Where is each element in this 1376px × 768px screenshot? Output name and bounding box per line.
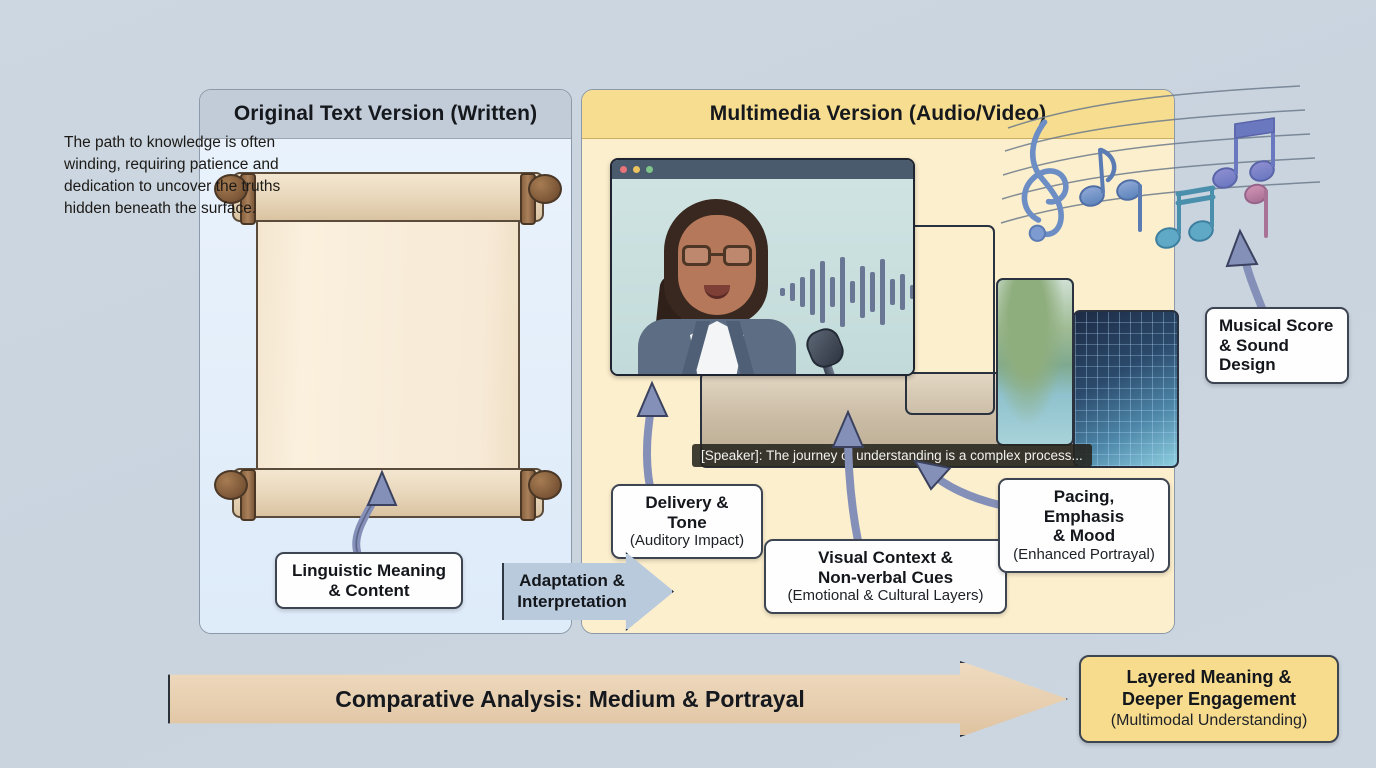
callout-pacing-subtitle: (Enhanced Portrayal) [1012, 546, 1156, 564]
arrow-musical-to-staff [1227, 231, 1262, 308]
comparative-analysis-arrow: Comparative Analysis: Medium & Portrayal [168, 661, 1068, 737]
outcome-box[interactable]: Layered Meaning & Deeper Engagement (Mul… [1079, 655, 1339, 743]
close-dot-icon[interactable] [620, 166, 627, 173]
waveform-bar [800, 277, 805, 307]
video-player-screen [612, 179, 913, 374]
music-note-quarter-2 [1243, 182, 1269, 236]
music-note-beamed-pair-2 [1211, 118, 1277, 191]
callout-musical-score[interactable]: Musical Score & Sound Design [1205, 307, 1349, 384]
minimize-dot-icon[interactable] [633, 166, 640, 173]
callout-pacing-title-line1: Pacing, Emphasis [1012, 487, 1156, 526]
scroll-parchment [256, 190, 520, 480]
waveform-bar [910, 285, 915, 299]
video-player-titlebar [612, 160, 913, 179]
callout-linguistic-meaning[interactable]: Linguistic Meaning & Content [275, 552, 463, 609]
nature-thumbnail [996, 278, 1074, 446]
scroll-rod-bottom [232, 468, 544, 518]
waveform-bar [780, 288, 785, 296]
waveform-bar [840, 257, 845, 327]
callout-pacing-title-line2: & Mood [1012, 526, 1156, 546]
waveform-bar [830, 277, 835, 307]
microphone-icon [802, 324, 848, 372]
scroll-knob-left-bottom [214, 470, 248, 500]
multimedia-panel-title: Multimedia Version (Audio/Video) [582, 90, 1174, 139]
waveform-bar [850, 281, 855, 303]
diagram-canvas: Original Text Version (Written) The path… [0, 0, 1376, 768]
audio-waveform-icon [780, 257, 915, 327]
callout-visual-subtitle: (Emotional & Cultural Layers) [778, 587, 993, 605]
waveform-bar [870, 272, 875, 312]
callout-delivery-title: Delivery & Tone [625, 493, 749, 532]
eyeglasses-icon [682, 245, 752, 267]
callout-linguistic-title-line2: & Content [289, 581, 449, 601]
outcome-subtitle: (Multimodal Understanding) [1111, 711, 1308, 731]
callout-delivery-and-tone[interactable]: Delivery & Tone (Auditory Impact) [611, 484, 763, 559]
outcome-title-line1: Layered Meaning & [1126, 667, 1291, 689]
callout-delivery-subtitle: (Auditory Impact) [625, 532, 749, 550]
waveform-bar [790, 283, 795, 301]
waveform-bar [810, 269, 815, 315]
callout-linguistic-title-line1: Linguistic Meaning [289, 561, 449, 581]
waveform-bar [890, 279, 895, 305]
callout-musical-title-line1: Musical Score [1219, 316, 1335, 336]
adaptation-label: Adaptation & Interpretation [504, 571, 634, 612]
waveform-bar [860, 266, 865, 318]
video-player[interactable] [610, 158, 915, 376]
waveform-bar [820, 261, 825, 323]
callout-pacing-emphasis-mood[interactable]: Pacing, Emphasis & Mood (Enhanced Portra… [998, 478, 1170, 573]
video-subtitle: [Speaker]: The journey of understanding … [692, 444, 1092, 467]
callout-visual-title-line1: Visual Context & [778, 548, 993, 568]
waveform-bar [900, 274, 905, 310]
adaptation-label-line2: Interpretation [510, 592, 634, 612]
maximize-dot-icon[interactable] [646, 166, 653, 173]
comparative-analysis-label: Comparative Analysis: Medium & Portrayal [335, 686, 805, 713]
adaptation-label-line1: Adaptation & [510, 571, 634, 591]
callout-visual-title-line2: Non-verbal Cues [778, 568, 993, 588]
callout-visual-context[interactable]: Visual Context & Non-verbal Cues (Emotio… [764, 539, 1007, 614]
waveform-bar [880, 259, 885, 325]
scroll-knob-right-bottom [528, 470, 562, 500]
library-thumbnail [905, 225, 995, 415]
outcome-title-line2: Deeper Engagement [1122, 689, 1296, 711]
scroll-quote-text: The path to knowledge is often winding, … [64, 132, 286, 220]
callout-musical-title-line2: & Sound Design [1219, 336, 1335, 375]
scroll-knob-right [528, 174, 562, 204]
